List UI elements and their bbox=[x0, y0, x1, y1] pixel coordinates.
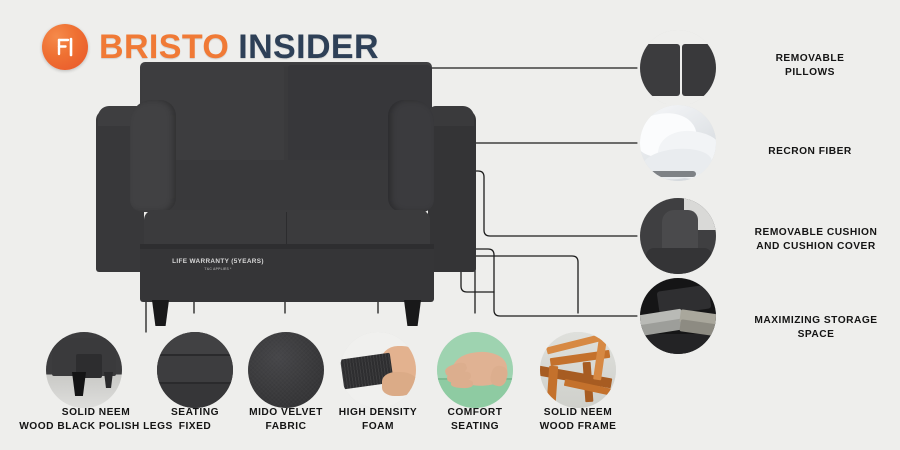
label-line-2: SEATING bbox=[415, 420, 535, 434]
label-removable-pillows: REMOVABLE PILLOWS bbox=[740, 52, 880, 80]
callout-maximizing-storage[interactable] bbox=[640, 278, 716, 354]
sofa-illustration: LIFE WARRANTY (5YEARS) T&C APPLIES * bbox=[96, 62, 476, 314]
brand-word-primary: BRISTO bbox=[99, 30, 229, 64]
legs-image bbox=[46, 332, 122, 408]
callout-high-density-foam[interactable] bbox=[340, 332, 416, 408]
seating-image bbox=[157, 332, 233, 408]
label-line-2: PILLOWS bbox=[740, 66, 880, 80]
callout-removable-cushion[interactable] bbox=[640, 198, 716, 274]
label-line-1: REMOVABLE CUSHION bbox=[736, 226, 896, 240]
maximizing-storage-image bbox=[640, 278, 716, 354]
sofa-arm-top-right bbox=[428, 106, 474, 126]
wood-frame-image bbox=[540, 332, 616, 408]
label-line-2: SPACE bbox=[736, 328, 896, 342]
label-recron-fiber: RECRON FIBER bbox=[740, 145, 880, 159]
infographic-canvas: BRISTO INSIDER bbox=[0, 0, 900, 450]
comfort-foam-image bbox=[437, 332, 513, 408]
label-line-2: WOOD FRAME bbox=[518, 420, 638, 434]
sofa-leg-left bbox=[152, 300, 169, 326]
label-maximizing-storage: MAXIMIZING STORAGE SPACE bbox=[736, 314, 896, 342]
callout-comfort-seating[interactable] bbox=[437, 332, 513, 408]
label-line-1: MAXIMIZING STORAGE bbox=[736, 314, 896, 328]
warranty-subtext: T&C APPLIES * bbox=[158, 267, 278, 271]
warranty-text: LIFE WARRANTY (5YEARS) bbox=[158, 258, 278, 266]
callout-recron-fiber[interactable] bbox=[640, 105, 716, 181]
foam-image bbox=[340, 332, 416, 408]
callout-removable-pillows[interactable] bbox=[640, 30, 716, 106]
bristo-monogram-icon bbox=[42, 24, 88, 70]
sofa-bolster-right bbox=[388, 100, 434, 212]
sofa-seat-split bbox=[286, 212, 287, 246]
callout-mido-velvet-fabric[interactable] bbox=[248, 332, 324, 408]
label-solid-neem-wood-frame: SOLID NEEM WOOD FRAME bbox=[518, 406, 638, 434]
label-line-1: COMFORT bbox=[415, 406, 535, 420]
sofa-base bbox=[140, 244, 434, 302]
label-removable-cushion: REMOVABLE CUSHION AND CUSHION COVER bbox=[736, 226, 896, 254]
brand-wordmark: BRISTO INSIDER bbox=[99, 30, 379, 64]
sofa-back-lower bbox=[148, 160, 426, 216]
callout-seating-fixed[interactable] bbox=[157, 332, 233, 408]
sofa-bolster-left bbox=[130, 100, 176, 212]
label-comfort-seating: COMFORT SEATING bbox=[415, 406, 535, 434]
warranty-tag: LIFE WARRANTY (5YEARS) T&C APPLIES * bbox=[158, 258, 278, 271]
brand-word-secondary: INSIDER bbox=[238, 30, 379, 64]
removable-pillows-image bbox=[640, 30, 716, 106]
sofa-leg-right bbox=[404, 300, 421, 326]
callout-solid-neem-wood-legs[interactable] bbox=[46, 332, 122, 408]
removable-cushion-image bbox=[640, 198, 716, 274]
recron-fiber-image bbox=[640, 105, 716, 181]
sofa-arm-right bbox=[428, 110, 476, 272]
label-line-1: REMOVABLE bbox=[740, 52, 880, 66]
sofa-base-lip bbox=[140, 244, 434, 249]
callout-solid-neem-wood-frame[interactable] bbox=[540, 332, 616, 408]
label-line-1: RECRON FIBER bbox=[740, 145, 880, 159]
velvet-image bbox=[248, 332, 324, 408]
label-line-2: AND CUSHION COVER bbox=[736, 240, 896, 254]
label-line-1: SOLID NEEM bbox=[518, 406, 638, 420]
